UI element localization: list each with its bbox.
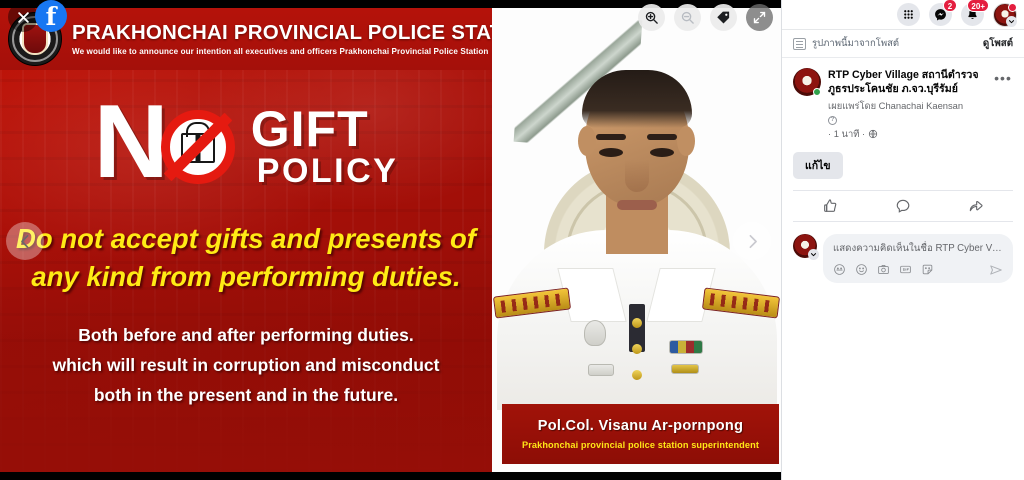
eye-right <box>650 148 674 157</box>
comment-input-box[interactable]: แสดงความคิดเห็นในชื่อ RTP Cyber Villa... <box>823 234 1013 283</box>
notifications-bell-icon[interactable]: 20+ <box>961 3 984 26</box>
camera-icon[interactable] <box>877 263 890 276</box>
post-time-row <box>828 116 986 125</box>
from-post-label: รูปภาพนี้มาจากโพสต์ <box>812 36 977 51</box>
like-icon <box>822 198 838 214</box>
headline-line-1: Do not accept gifts and presents of <box>10 220 482 258</box>
next-photo-button[interactable] <box>733 222 771 260</box>
chevron-down-icon[interactable] <box>808 249 819 260</box>
info-question-icon[interactable] <box>828 116 837 125</box>
from-post-row: รูปภาพนี้มาจากโพสต์ ดูโพสต์ <box>782 30 1024 58</box>
close-button[interactable] <box>8 2 38 32</box>
comment-button[interactable] <box>866 191 939 221</box>
post-article-icon <box>793 38 806 50</box>
eyebrow-left <box>596 134 626 140</box>
globe-public-icon <box>868 129 878 139</box>
facebook-logo-icon[interactable]: f <box>35 0 67 32</box>
avatar-emoji-icon[interactable] <box>833 263 846 276</box>
online-status-dot <box>813 88 821 96</box>
previous-photo-button[interactable] <box>6 222 44 260</box>
no-gift-prohibition-icon <box>161 110 235 184</box>
comment-input[interactable]: แสดงความคิดเห็นในชื่อ RTP Cyber Villa... <box>833 241 1003 256</box>
poster-subtitle: We would like to announce our intention … <box>72 47 482 56</box>
ear-right <box>677 126 695 156</box>
officer-role: Prakhonchai provincial police station su… <box>522 440 759 450</box>
avatar-status-dot <box>1008 3 1017 12</box>
chevron-down-icon[interactable] <box>1006 16 1017 27</box>
like-button[interactable] <box>793 191 866 221</box>
messenger-badge: 2 <box>943 0 957 12</box>
letter-n: N <box>94 100 167 185</box>
comment-toolbar <box>833 263 1003 277</box>
photo-theater-page: PRAKHONCHAI PROVINCIAL POLICE STATION We… <box>0 0 1024 480</box>
word-gift: GIFT <box>251 106 399 152</box>
uniform-badge-gold <box>671 364 699 374</box>
body-line-2: which will result in corruption and misc… <box>16 350 476 380</box>
messenger-icon[interactable]: 2 <box>929 3 952 26</box>
ear-left <box>578 126 596 156</box>
poster-body-text: Both before and after performing duties.… <box>0 320 492 410</box>
post-meta: RTP Cyber Village สถานีตำรวจภูธรประโคนชั… <box>828 68 986 142</box>
share-button[interactable] <box>940 191 1013 221</box>
nose <box>625 160 649 192</box>
post-header: RTP Cyber Village สถานีตำรวจภูธรประโคนชั… <box>782 58 1024 142</box>
poster-graphic: PRAKHONCHAI PROVINCIAL POLICE STATION We… <box>0 8 492 472</box>
gif-icon[interactable] <box>899 263 912 276</box>
no-word-group: N <box>94 100 239 185</box>
post-timestamp[interactable]: · 1 นาที · <box>828 127 865 142</box>
photo-viewer: PRAKHONCHAI PROVINCIAL POLICE STATION We… <box>0 0 781 480</box>
facebook-top-navigation: 2 20+ <box>782 0 1024 30</box>
photo-tools <box>638 4 773 31</box>
tag-photo-icon[interactable] <box>710 4 737 31</box>
sticker-icon[interactable] <box>921 263 934 276</box>
officer-name: Pol.Col. Visanu Ar-pornpong <box>538 418 743 434</box>
headline-line-2: any kind from performing duties. <box>10 258 482 296</box>
body-line-3: both in the present and in the future. <box>16 380 476 410</box>
uniform-nameplate-badge <box>588 364 614 376</box>
hair <box>582 70 692 128</box>
mouth <box>617 200 657 210</box>
more-options-icon[interactable]: ••• <box>993 68 1013 88</box>
notifications-badge: 20+ <box>967 0 989 12</box>
share-icon <box>968 198 984 214</box>
zoom-in-icon[interactable] <box>638 4 665 31</box>
menu-grid-icon[interactable] <box>897 3 920 26</box>
post-action-bar <box>793 190 1013 222</box>
post-timestamp-row: · 1 นาที · <box>828 127 986 142</box>
eyebrow-right <box>647 134 677 140</box>
uniform-buttons <box>632 310 642 410</box>
service-ribbons <box>669 340 703 354</box>
comment-avatar[interactable] <box>793 234 817 258</box>
gift-policy-words: GIFT POLICY <box>251 106 399 190</box>
word-policy: POLICY <box>251 154 399 190</box>
page-title: PRAKHONCHAI PROVINCIAL POLICE STATION <box>72 22 482 44</box>
page-avatar[interactable] <box>793 68 821 96</box>
emoji-smiley-icon[interactable] <box>855 263 868 276</box>
photo-stage: PRAKHONCHAI PROVINCIAL POLICE STATION We… <box>0 8 781 472</box>
post-details-sidebar: 2 20+ รูปภาพนี้มาจากโพสต์ <box>781 0 1024 480</box>
edit-row: แก้ไข <box>782 142 1024 190</box>
uniform-badge-crest <box>584 320 606 346</box>
eye-left <box>599 148 623 157</box>
poster-header: PRAKHONCHAI PROVINCIAL POLICE STATION We… <box>0 8 492 70</box>
posted-by-label: เผยแพร่โดย Chanachai Kaensan <box>828 99 986 114</box>
poster-title-group: PRAKHONCHAI PROVINCIAL POLICE STATION We… <box>72 22 482 56</box>
view-post-link[interactable]: ดูโพสต์ <box>983 36 1013 51</box>
account-avatar[interactable] <box>993 3 1017 27</box>
edit-button[interactable]: แก้ไข <box>793 152 843 179</box>
fullscreen-icon[interactable] <box>746 4 773 31</box>
poster-headline: Do not accept gifts and presents of any … <box>0 220 492 296</box>
comment-composer: แสดงความคิดเห็นในชื่อ RTP Cyber Villa... <box>782 222 1024 283</box>
no-gift-headline: N GIFT POLICY <box>0 100 492 190</box>
officer-nameplate: Pol.Col. Visanu Ar-pornpong Prakhonchai … <box>502 404 779 464</box>
zoom-out-icon[interactable] <box>674 4 701 31</box>
comment-icon <box>895 198 911 214</box>
send-icon[interactable] <box>989 263 1003 277</box>
page-name-link[interactable]: RTP Cyber Village สถานีตำรวจภูธรประโคนชั… <box>828 68 986 97</box>
body-line-1: Both before and after performing duties. <box>16 320 476 350</box>
